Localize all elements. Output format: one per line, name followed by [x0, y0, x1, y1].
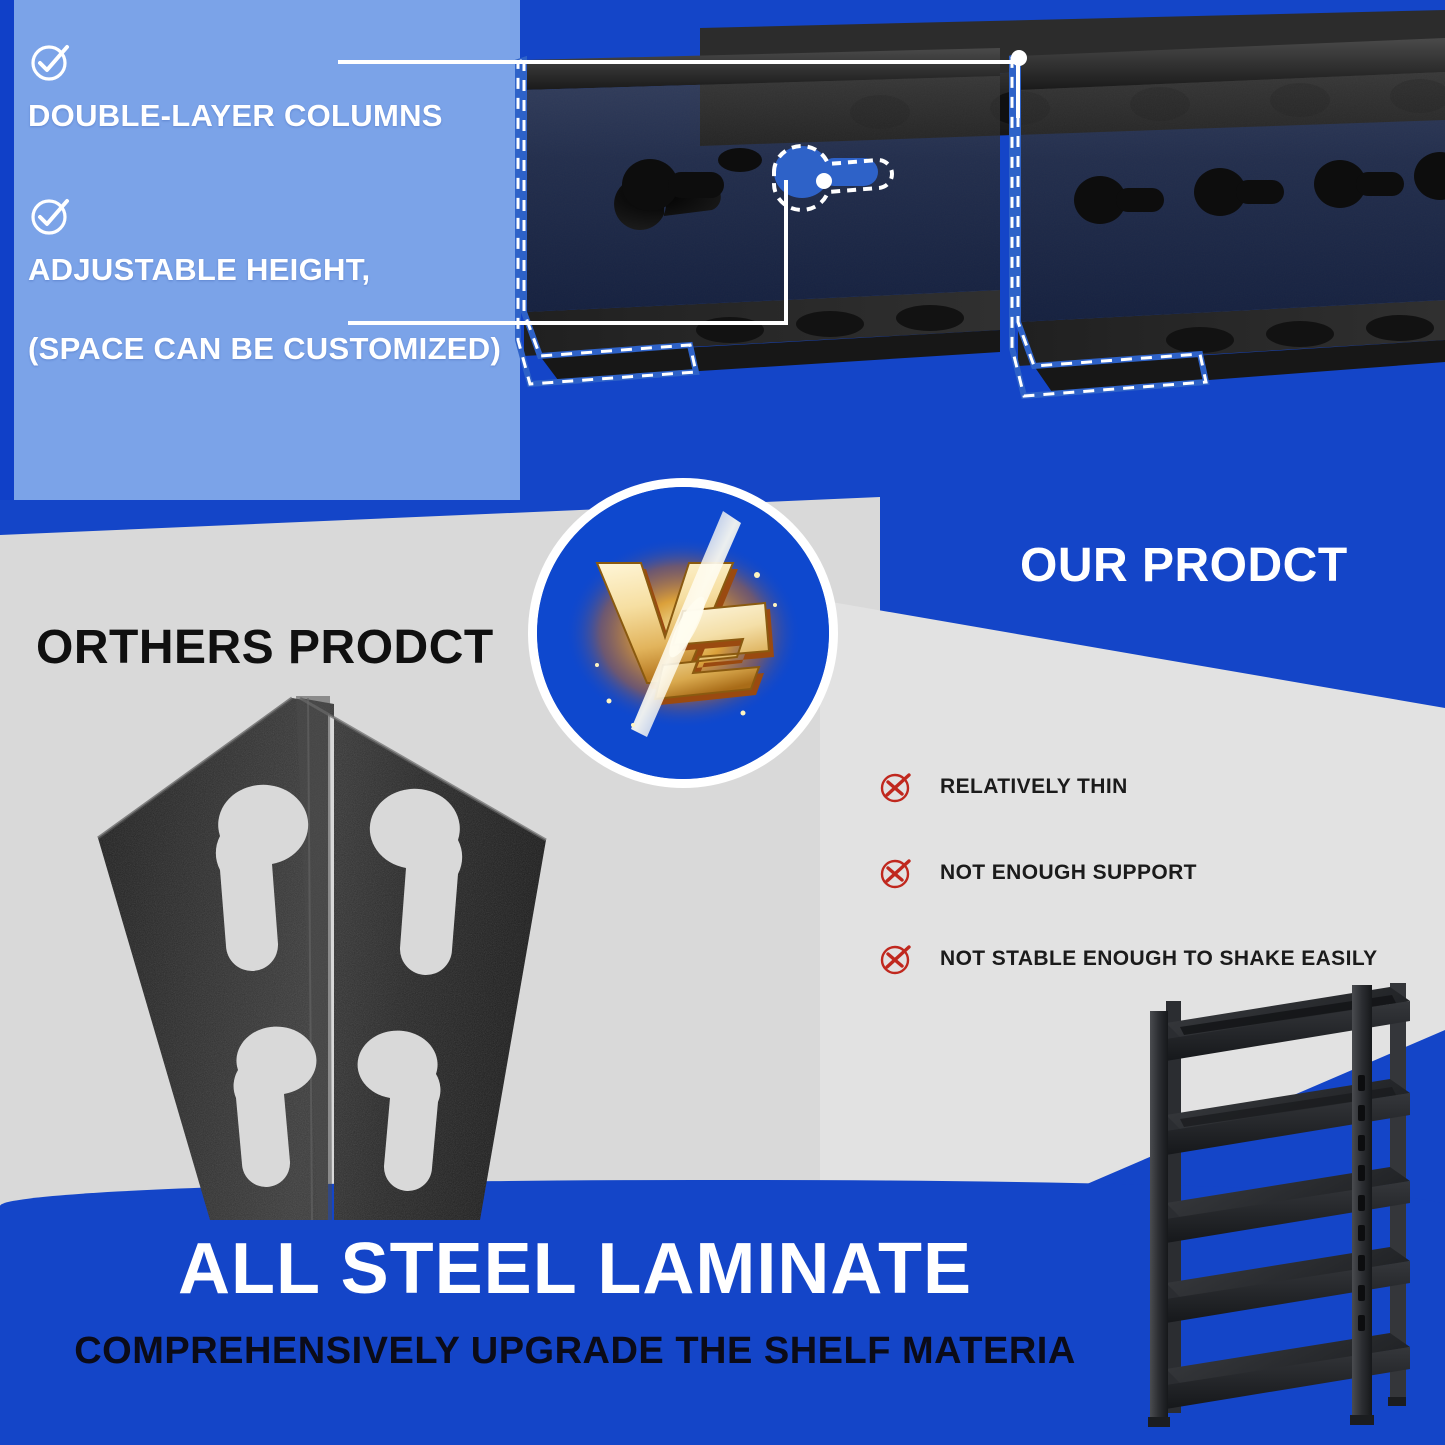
shelf-post-slots: [1358, 1075, 1365, 1331]
feature-label: DOUBLE-LAYER COLUMNS: [28, 98, 528, 134]
con-label: RELATIVELY THIN: [940, 775, 1128, 799]
shelf-post-front-left: [1150, 1011, 1168, 1423]
x-circle-icon: [878, 856, 912, 890]
beam-left-front: [518, 48, 1000, 384]
check-circle-icon: [28, 194, 72, 238]
feature-item-adjustable-height: ADJUSTABLE HEIGHT, (SPACE CAN BE CUSTOMI…: [28, 194, 528, 367]
footer-subheadline: COMPREHENSIVELY UPGRADE THE SHELF MATERI…: [0, 1330, 1150, 1373]
spacer: [28, 140, 528, 194]
feature-label: ADJUSTABLE HEIGHT,: [28, 252, 528, 288]
callout-line-bottom-v: [784, 180, 788, 325]
infographic-canvas: DOUBLE-LAYER COLUMNS ADJUSTABLE HEIGHT, …: [0, 0, 1445, 1445]
shelf-tiers: [1166, 987, 1410, 1409]
feature-note: (SPACE CAN BE CUSTOMIZED): [28, 331, 528, 367]
con-item-relatively-thin: RELATIVELY THIN: [878, 770, 1423, 804]
check-circle-icon: [28, 40, 72, 84]
feature-list: DOUBLE-LAYER COLUMNS ADJUSTABLE HEIGHT, …: [28, 40, 528, 373]
feature-item-double-layer: DOUBLE-LAYER COLUMNS: [28, 40, 528, 134]
con-label: NOT ENOUGH SUPPORT: [940, 861, 1197, 885]
x-circle-icon: [878, 942, 912, 976]
con-item-not-enough-support: NOT ENOUGH SUPPORT: [878, 856, 1423, 890]
our-product-title: OUR PRODCT: [1020, 538, 1348, 593]
steel-beam-photo: [500, 0, 1445, 500]
x-circle-icon: [878, 770, 912, 804]
shelving-unit-photo: [1120, 965, 1440, 1435]
background-left-rail: [0, 0, 14, 512]
vs-badge-icon: [528, 478, 838, 788]
corner-post-photo: [60, 690, 620, 1220]
others-product-title: ORTHERS PRODCT: [36, 620, 494, 675]
beam-right-front: [1011, 38, 1445, 396]
callout-line-top-v: [1016, 60, 1020, 118]
footer-headline: ALL STEEL LAMINATE: [0, 1228, 1150, 1310]
